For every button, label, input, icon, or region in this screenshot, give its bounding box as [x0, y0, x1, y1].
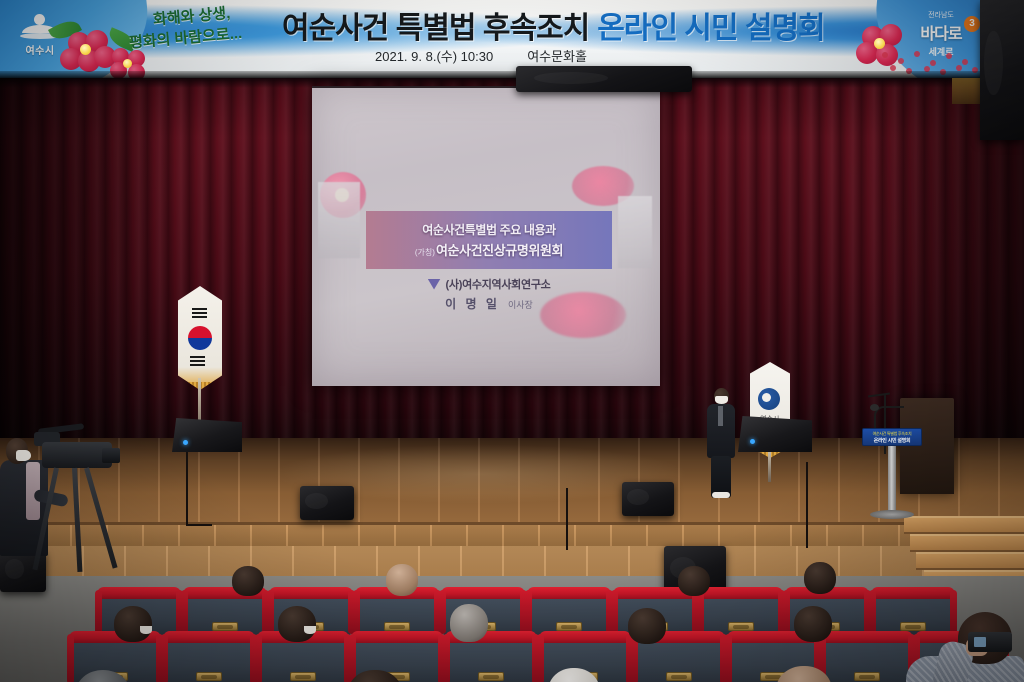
stage-cable-left [186, 452, 188, 524]
hall-interior: 여순사건특별법 주요 내용과 (가칭) 여순사건진상규명위원회 (사)여수지역사… [0, 78, 1024, 682]
audience-member [776, 666, 834, 682]
slide-credit: (사)여수지역사회연구소 이 명 일 이사장 [366, 276, 612, 312]
korean-flag [178, 286, 222, 390]
slide-decor-right [618, 196, 652, 268]
taeguk-symbol-icon [188, 326, 212, 350]
video-camera-rig[interactable] [28, 430, 124, 590]
slide-title-band: 여순사건특별법 주요 내용과 (가칭) 여순사건진상규명위원회 [366, 211, 612, 269]
camera-lens-icon [102, 448, 120, 463]
lectern-microphone-icon [874, 406, 904, 430]
event-banner: 여수시 화해와 상생, 평화의 바람으로 [0, 0, 1024, 78]
audience-member [348, 670, 404, 682]
audience-member [804, 562, 838, 600]
slide-title-prefix: (가칭) [415, 247, 435, 258]
compact-camera-icon[interactable] [968, 632, 1012, 652]
floor-speaker-left [300, 486, 354, 520]
face-mask-icon [715, 396, 728, 404]
presenter-on-stage [706, 388, 736, 504]
audience-member [794, 606, 834, 646]
camera-operator [0, 430, 110, 630]
stage-cable-center [566, 488, 568, 550]
city-flag-emblem-icon [758, 388, 780, 410]
presenter-legs [711, 456, 731, 498]
city-flag-pole [768, 448, 771, 482]
event-venue: 여수문화홀 [527, 46, 587, 65]
slide-decor-left [318, 182, 360, 258]
audience-member [386, 564, 420, 600]
lectern-base [870, 510, 914, 519]
audience-member [548, 668, 602, 682]
slide-org-mark-icon [428, 279, 441, 290]
audience-member [450, 604, 490, 646]
banner-dot-pattern [878, 50, 988, 76]
rear-speaker-column [980, 0, 1024, 140]
slide-title-line-2: 여순사건진상규명위원회 [436, 240, 563, 259]
seat[interactable] [824, 638, 910, 682]
projection-screen: 여순사건특별법 주요 내용과 (가칭) 여순사건진상규명위원회 (사)여수지역사… [312, 86, 660, 386]
stage-cable-left-run [186, 524, 212, 526]
photographer [904, 598, 1024, 682]
slide-presenter-name: 이 명 일 [445, 295, 500, 312]
audience-member [628, 608, 668, 648]
floor-speaker-center [622, 482, 674, 516]
lectern-stem [888, 446, 896, 512]
ceiling-speaker [516, 66, 692, 92]
curtain-shadow-left [0, 78, 170, 450]
audience-member [278, 606, 318, 646]
audience-member [678, 566, 712, 600]
badge-number: 3 [964, 16, 980, 32]
audience-member [76, 670, 132, 682]
stage-monitor-right [738, 416, 812, 452]
banner-headline: 여순사건 특별법 후속조치 온라인 시민 설명회 [282, 4, 862, 46]
headline-accent: 온라인 시민 설명회 [597, 3, 824, 47]
stage-cable-right [806, 462, 808, 548]
lectern-sign: 여순사건 특별법 후속조치 온라인 시민 설명회 [862, 428, 922, 446]
slide-presenter-title: 이사장 [508, 298, 533, 311]
lectern: 여순사건 특별법 후속조치 온라인 시민 설명회 [862, 428, 922, 524]
audience-member [232, 566, 266, 600]
lectern-sign-line-2: 온라인 시민 설명회 [874, 437, 911, 444]
stage-monitor-left [172, 418, 242, 452]
auditorium-scene: 여수시 화해와 상생, 평화의 바람으로 [0, 0, 1024, 682]
slide-title-line-1: 여순사건특별법 주요 내용과 [422, 221, 556, 238]
slide-org-name: (사)여수지역사회연구소 [446, 276, 551, 292]
audience-member [114, 606, 154, 646]
banner-subline: 2021. 9. 8.(수) 10:30 여수문화홀 [375, 46, 655, 65]
headline-main: 여순사건 특별법 후속조치 [282, 3, 589, 47]
event-datetime: 2021. 9. 8.(수) 10:30 [375, 46, 493, 65]
seat[interactable] [166, 638, 252, 682]
presenter-tie [718, 406, 723, 426]
